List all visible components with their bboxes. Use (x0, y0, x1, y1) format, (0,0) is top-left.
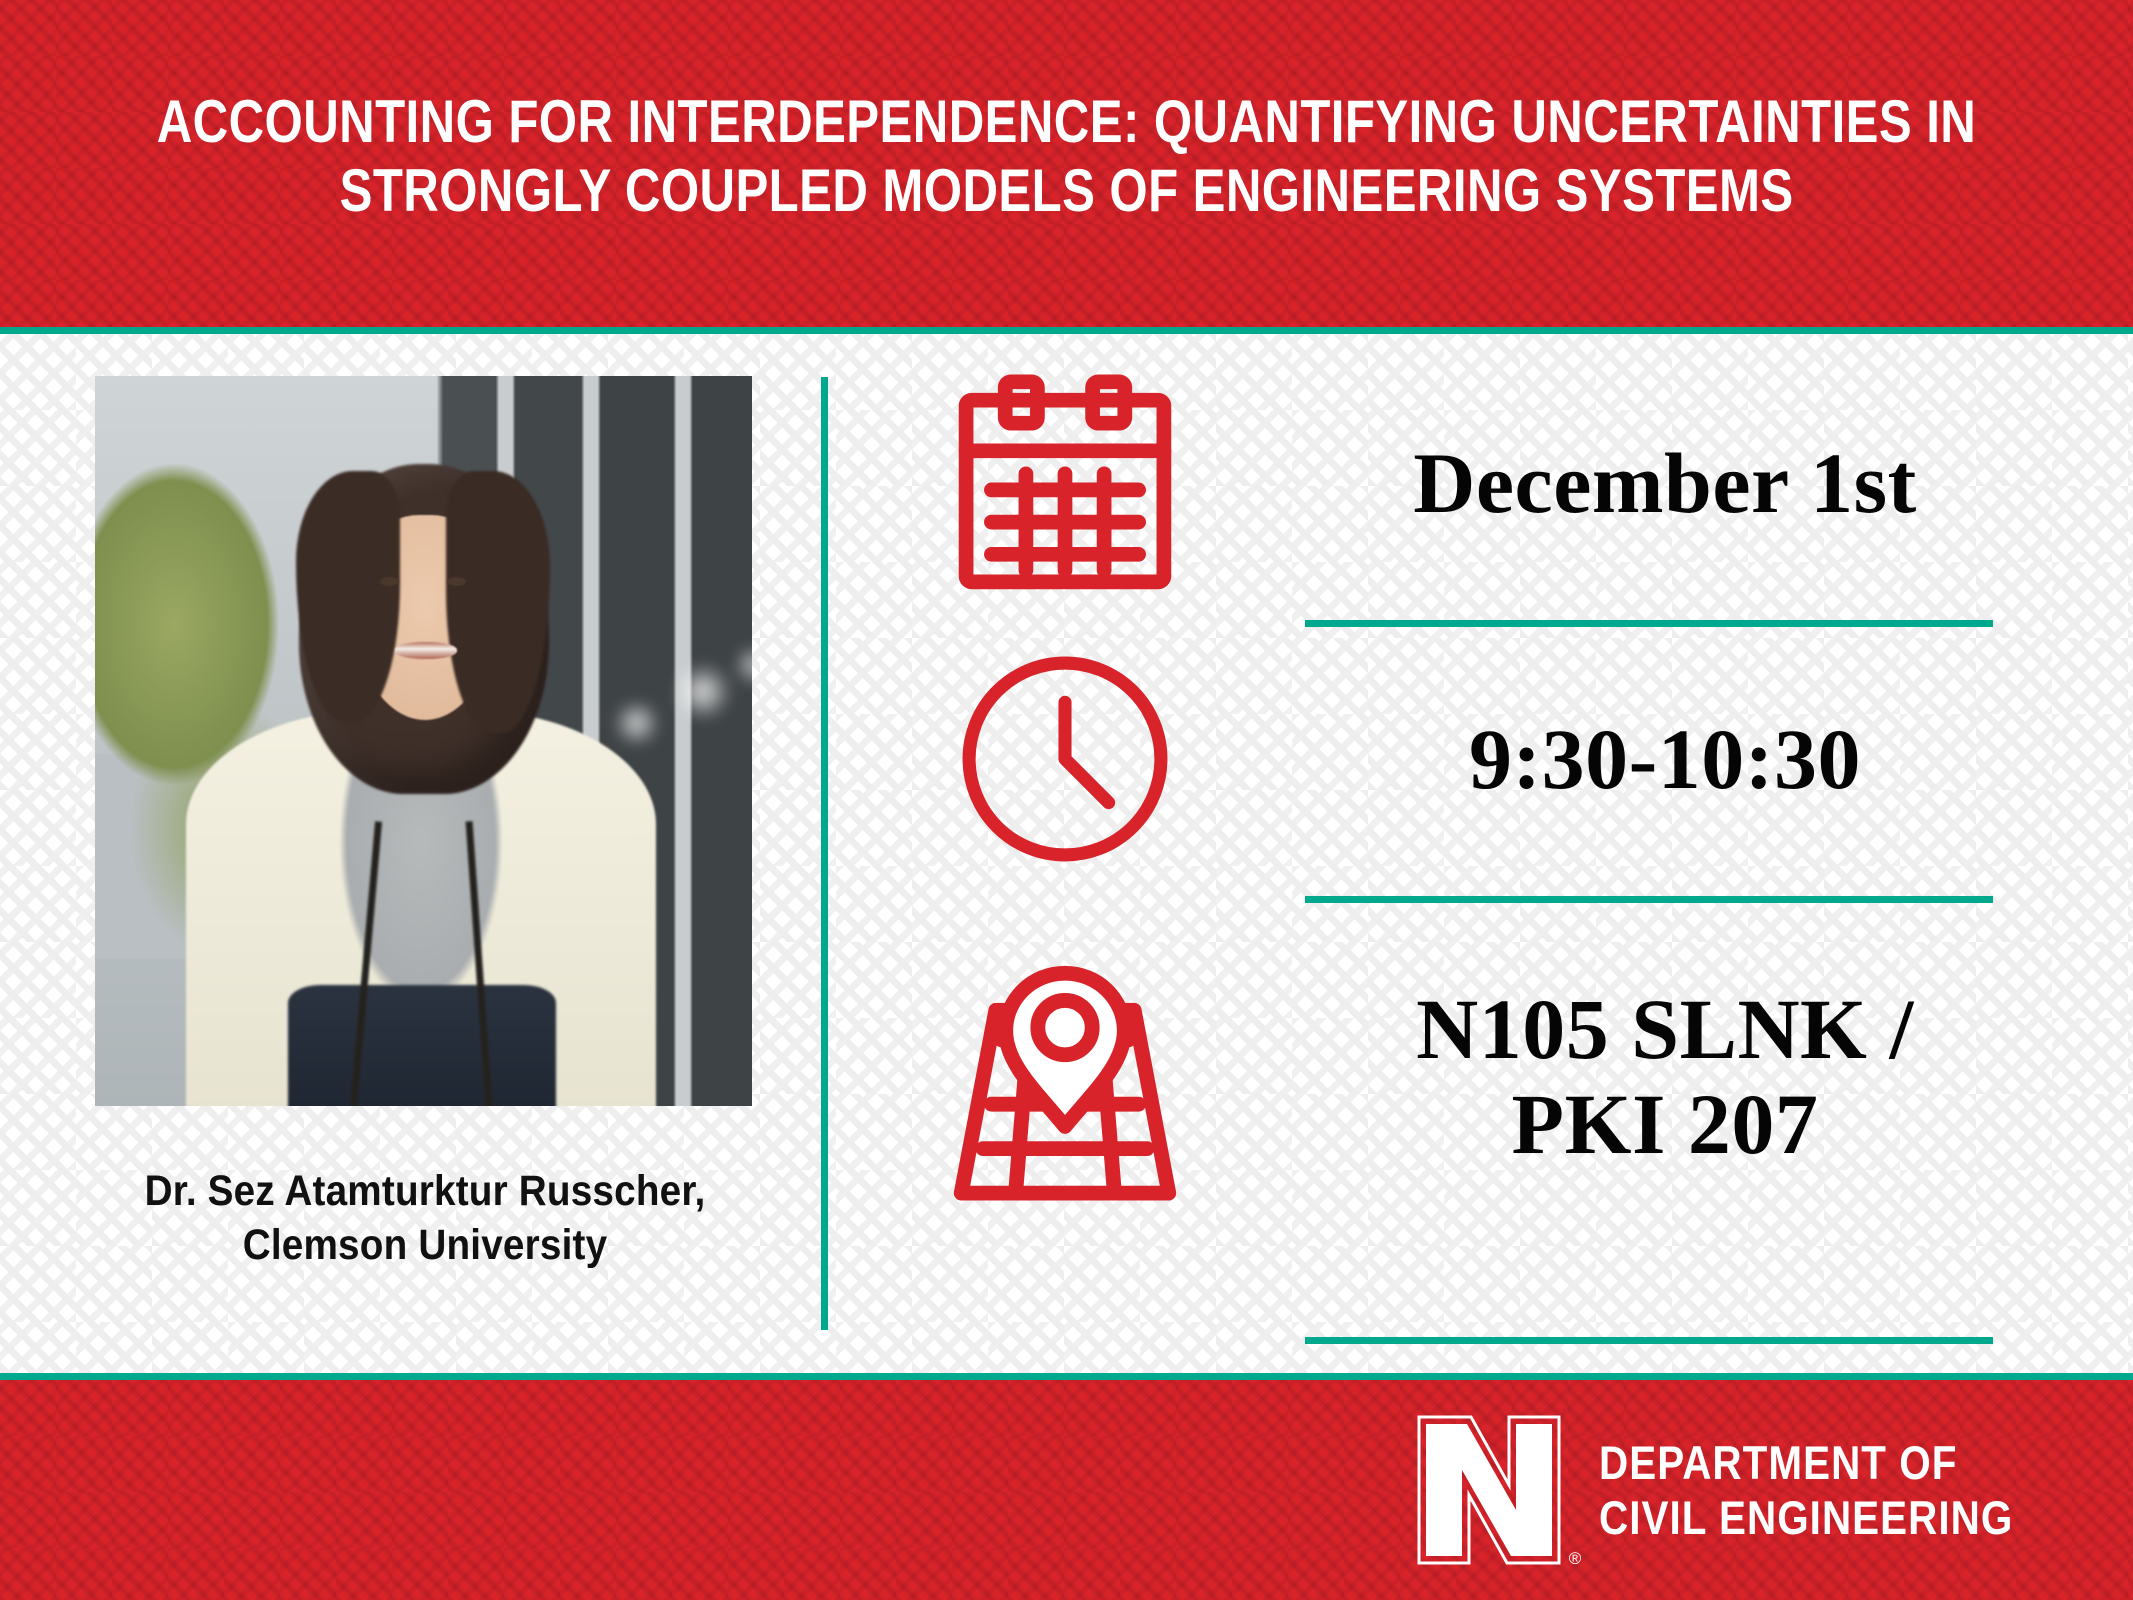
department-line-2: CIVIL ENGINEERING (1599, 1490, 2013, 1545)
photo-zipper-right (465, 821, 493, 1106)
location-value-line-2: PKI 207 (1416, 1077, 1914, 1172)
photo-subject (95, 376, 752, 1106)
speaker-photo (95, 376, 752, 1106)
map-pin-icon (880, 951, 1250, 1203)
header-banner: ACCOUNTING FOR INTERDEPENDENCE: QUANTIFY… (0, 0, 2133, 327)
photo-background-bokeh (95, 376, 752, 902)
speaker-affiliation: Clemson University (79, 1218, 772, 1272)
detail-row-date: December 1st (880, 358, 2080, 608)
divider-top (0, 327, 2133, 334)
divider-under-location (1305, 1337, 1993, 1344)
detail-row-time: 9:30-10:30 (880, 634, 2080, 884)
photo-jacket (186, 710, 656, 1106)
page-title-line-1: ACCOUNTING FOR INTERDEPENDENCE: QUANTIFY… (157, 88, 1977, 156)
divider-bottom (0, 1373, 2133, 1380)
department-line-1: DEPARTMENT OF (1599, 1435, 2013, 1490)
footer-banner: ® DEPARTMENT OF CIVIL ENGINEERING (0, 1380, 2133, 1600)
footer-content: ® DEPARTMENT OF CIVIL ENGINEERING (0, 1380, 2133, 1600)
page-title-line-2: STRONGLY COUPLED MODELS OF ENGINEERING S… (339, 157, 1793, 225)
clock-icon (880, 650, 1250, 868)
main-content: Dr. Sez Atamturktur Russcher, Clemson Un… (0, 334, 2133, 1373)
photo-eye-right (447, 577, 466, 586)
photo-mouth (395, 642, 457, 659)
photo-face (350, 515, 500, 720)
speaker-photo-image (95, 376, 752, 1106)
poster: ACCOUNTING FOR INTERDEPENDENCE: QUANTIFY… (0, 0, 2133, 1600)
registered-trademark-icon: ® (1569, 1550, 1582, 1567)
location-value: N105 SLNK / PKI 207 (1416, 982, 1914, 1171)
photo-hair-left (296, 471, 400, 721)
department-name: DEPARTMENT OF CIVIL ENGINEERING (1599, 1435, 2013, 1546)
time-value: 9:30-10:30 (1469, 712, 1861, 807)
speaker-name: Dr. Sez Atamturktur Russcher, (79, 1164, 772, 1218)
time-value-cell: 9:30-10:30 (1250, 669, 2080, 849)
date-value-cell: December 1st (1250, 393, 2080, 573)
photo-hair-right (446, 471, 550, 733)
header-title-block: ACCOUNTING FOR INTERDEPENDENCE: QUANTIFY… (0, 0, 2133, 327)
location-value-line-1: N105 SLNK / (1416, 982, 1914, 1077)
nebraska-n-logo: ® (1413, 1411, 1565, 1569)
photo-skirt (288, 985, 556, 1106)
speaker-caption: Dr. Sez Atamturktur Russcher, Clemson Un… (79, 1164, 772, 1272)
detail-row-location: N105 SLNK / PKI 207 (880, 912, 2080, 1242)
photo-zipper-left (348, 821, 381, 1106)
calendar-icon (880, 368, 1250, 598)
location-value-cell: N105 SLNK / PKI 207 (1250, 982, 2080, 1171)
photo-hair (299, 464, 549, 794)
divider-under-time (1305, 896, 1993, 903)
divider-under-date (1305, 620, 1993, 627)
date-value: December 1st (1413, 436, 1916, 531)
photo-eye-left (380, 577, 399, 586)
divider-vertical (821, 377, 828, 1330)
